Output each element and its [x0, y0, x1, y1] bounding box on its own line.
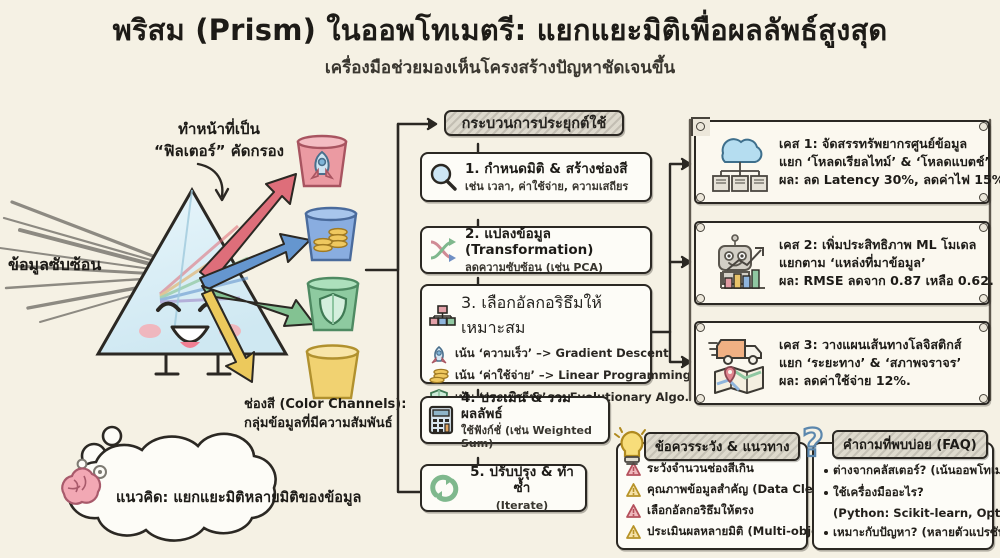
warning-item-3-label: เลือกอัลกอริธึมให้ตรง: [647, 502, 754, 520]
step-4-detail: ใช้ฟังก์ชั่ (เช่น Weighted Sum): [461, 424, 600, 450]
case-3-line3: ผล: ลดค่าใช้จ่าย 12%.: [779, 372, 962, 390]
faq-item-3: (Python: Scikit-learn, Optuna): [824, 506, 984, 520]
faq-title: คำถามที่พบบ่อย (FAQ): [832, 430, 988, 459]
faq-item-3-label: (Python: Scikit-learn, Optuna): [833, 506, 1000, 520]
truck-map-icon: [709, 332, 769, 394]
case-2-text: เคส 2: เพิ่มประสิทธิภาพ ML โมเดล แยกตาม …: [779, 236, 994, 291]
title-block: พริสม (Prism) ในออพโทเมตรี: แยกแยะมิติเพ…: [0, 14, 1000, 81]
process-header-label: กระบวนการประยุกต์ใช้: [462, 112, 607, 135]
step-2-title: 2. แปลงข้อมูล (Transformation): [465, 226, 642, 258]
question-mark-icon: ?: [800, 424, 836, 470]
bullet-icon: [824, 531, 828, 535]
case-2-line3: ผล: RMSE ลดจาก 0.87 เหลือ 0.62.: [779, 272, 994, 290]
case-1-line3: ผล: ลด Latency 30%, ลดค่าไฟ 15%.: [779, 171, 1000, 189]
recycle-icon: [428, 473, 460, 503]
faq-item-4: เหมาะกับปัญหา? (หลายตัวแปรซับซ้อน): [824, 524, 984, 542]
step-3-substep-1: เน้น ‘ความเร็ว’ –> Gradient Descent: [429, 345, 643, 363]
step-5-title: 5. ปรับปรุง & ทำซ้ำ: [467, 464, 577, 496]
faq-item-2: ใช้เครื่องมืออะไร?: [824, 484, 984, 502]
infographic-canvas: พริสม (Prism) ในออพโทเมตรี: แยกแยะมิติเพ…: [0, 0, 1000, 558]
step-1-title: 1. กำหนดมิติ & สร้างช่องสี: [465, 161, 642, 177]
warning-item-1-label: ระวังจำนวนช่องสีเกิน: [647, 460, 754, 478]
step-4-title: 4. ประเมิน & รวมผลลัพธ์: [461, 390, 600, 422]
page-subtitle: เครื่องมือช่วยมองเห็นโครงสร้างปัญหาชัดเจ…: [0, 54, 1000, 81]
cloud-servers-icon: [709, 131, 769, 193]
robot-chart-icon: [709, 232, 769, 294]
faq-item-1-label: ต่างจากคลัสเตอร์? (เน้นออพโทเมตรี): [833, 463, 1000, 477]
step-2-detail: ลดความซับซ้อน (เช่น PCA): [465, 261, 642, 274]
step-3-substep-2: เน้น ‘ค่าใช้จ่าย’ –> Linear Programming: [429, 367, 643, 385]
warning-item-2: คุณภาพข้อมูลสำคัญ (Data Cleaning): [626, 481, 798, 499]
warnings-title: ข้อควรระวัง & แนวทาง: [644, 432, 800, 461]
step-1-detail: เช่น เวลา, ค่าใช้จ่าย, ความเสถียร: [465, 180, 642, 193]
truck-icon: [709, 340, 761, 364]
faq-item-2-label: ใช้เครื่องมืออะไร?: [833, 485, 924, 499]
page-title: พริสม (Prism) ในออพโทเมตรี: แยกแยะมิติเพ…: [0, 14, 1000, 47]
case-1-line1: เคส 1: จัดสรรทรัพยากรศูนย์ข้อมูล: [779, 135, 1000, 153]
filter-note-line1: ทำหน้าที่เป็น: [124, 120, 314, 140]
case-card-3[interactable]: เคส 3: วางแผนเส้นทางโลจิสติกส์ แยก ‘ระยะ…: [694, 321, 990, 405]
faq-item-4-label: เหมาะกับปัญหา? (หลายตัวแปรซับซ้อน): [833, 525, 1000, 539]
step-3-substep-1-label: เน้น ‘ความเร็ว’ –> Gradient Descent: [455, 345, 669, 363]
process-step-3[interactable]: 3. เลือกอัลกอริธึมให้เหมาะสม เน้น ‘ความเ…: [420, 284, 652, 384]
shuffle-icon: [428, 236, 458, 264]
process-step-4[interactable]: 4. ประเมิน & รวมผลลัพธ์ ใช้ฟังก์ชั่ (เช่…: [420, 396, 610, 444]
case-card-2[interactable]: เคส 2: เพิ่มประสิทธิภาพ ML โมเดล แยกตาม …: [694, 221, 990, 305]
map-icon: [715, 367, 763, 393]
case-1-line2: แยก ‘โหลดเรียลไทม์’ & ‘โหลดแบตช์’: [779, 153, 1000, 171]
sitemap-icon: [429, 305, 455, 327]
process-step-1[interactable]: 1. กำหนดมิติ & สร้างช่องสี เช่น เวลา, ค่…: [420, 152, 652, 202]
svg-text:?: ?: [802, 421, 824, 465]
process-step-2[interactable]: 2. แปลงข้อมูล (Transformation) ลดความซับ…: [420, 226, 652, 274]
warning-item-4: ประเมินผลหลายมิติ (Multi-objective): [626, 523, 798, 541]
warning-yellow-icon: [626, 483, 641, 497]
calculator-icon: [428, 405, 454, 435]
step-5-detail: (Iterate): [467, 499, 577, 512]
rocket-icon: [429, 345, 449, 363]
case-2-line2: แยกตาม ‘แหล่งที่มาข้อมูล’: [779, 254, 994, 272]
thought-cloud: แนวคิด: แยกแยะมิติหลายมิติของข้อมูล: [18, 424, 348, 552]
magnifier-icon: [428, 162, 458, 192]
process-step-5[interactable]: 5. ปรับปรุง & ทำซ้ำ (Iterate): [420, 464, 587, 512]
case-2-line1: เคส 2: เพิ่มประสิทธิภาพ ML โมเดล: [779, 236, 994, 254]
warning-item-3: เลือกอัลกอริธึมให้ตรง: [626, 502, 798, 520]
warning-red-icon: [626, 504, 641, 518]
step-3-title: 3. เลือกอัลกอริธึมให้เหมาะสม: [461, 291, 643, 341]
thought-label: แนวคิด: แยกแยะมิติหลายมิติของข้อมูล: [116, 489, 361, 506]
case-card-1[interactable]: เคส 1: จัดสรรทรัพยากรศูนย์ข้อมูล แยก ‘โห…: [694, 120, 990, 204]
case-3-text: เคส 3: วางแผนเส้นทางโลจิสติกส์ แยก ‘ระยะ…: [779, 336, 962, 391]
coins-icon: [429, 367, 449, 385]
case-3-line2: แยก ‘ระยะทาง’ & ‘สภาพจราจร’: [779, 354, 962, 372]
case-3-line1: เคส 3: วางแผนเส้นทางโลจิสติกส์: [779, 336, 962, 354]
warning-yellow-icon: [626, 525, 641, 539]
case-1-text: เคส 1: จัดสรรทรัพยากรศูนย์ข้อมูล แยก ‘โห…: [779, 135, 1000, 190]
process-header: กระบวนการประยุกต์ใช้: [444, 110, 624, 136]
bullet-icon: [824, 491, 828, 495]
faq-item-1: ต่างจากคลัสเตอร์? (เน้นออพโทเมตรี): [824, 462, 984, 480]
